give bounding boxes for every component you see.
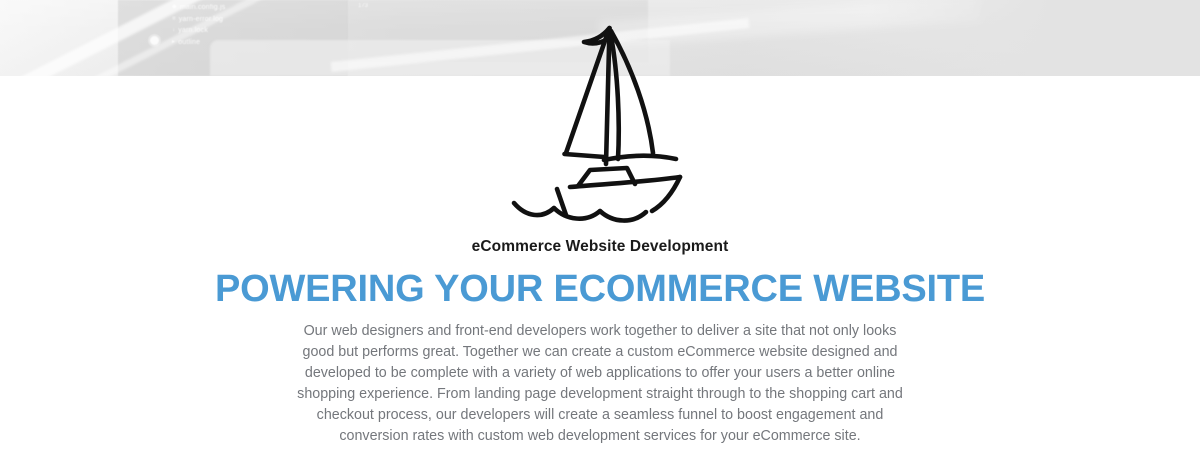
file-icon: ↓ bbox=[172, 25, 175, 37]
file-tree-item-label: main.config.js bbox=[180, 2, 226, 14]
page-title: POWERING YOUR ECOMMERCE WEBSITE bbox=[0, 267, 1200, 311]
file-tree-item: ↓ yarn.lock bbox=[172, 25, 362, 37]
file-icon: ◆ bbox=[172, 2, 177, 14]
file-icon: ≡ bbox=[172, 14, 176, 26]
file-tree-item: ≡ yarn-error.log bbox=[172, 14, 362, 26]
editor-line-number: 173 bbox=[358, 3, 368, 9]
file-tree-item-label: outline bbox=[178, 37, 200, 49]
file-tree-item: ▸ outline bbox=[172, 37, 362, 49]
file-tree-item-label: yarn.lock bbox=[178, 25, 208, 37]
banner-right-fade bbox=[870, 0, 1200, 76]
file-tree-item: ◆ main.config.js bbox=[172, 2, 362, 14]
editor-file-tree: ◆ main.config.js ≡ yarn-error.log ↓ yarn… bbox=[172, 2, 362, 48]
hero-description: Our web designers and front-end develope… bbox=[286, 321, 914, 447]
file-tree-item-label: yarn-error.log bbox=[179, 14, 223, 26]
chevron-right-icon: ▸ bbox=[172, 37, 175, 49]
hero-content: eCommerce Website Development POWERING Y… bbox=[0, 236, 1200, 447]
gear-icon bbox=[150, 36, 159, 45]
eyebrow-heading: eCommerce Website Development bbox=[0, 236, 1200, 258]
sailboat-icon bbox=[500, 12, 708, 224]
